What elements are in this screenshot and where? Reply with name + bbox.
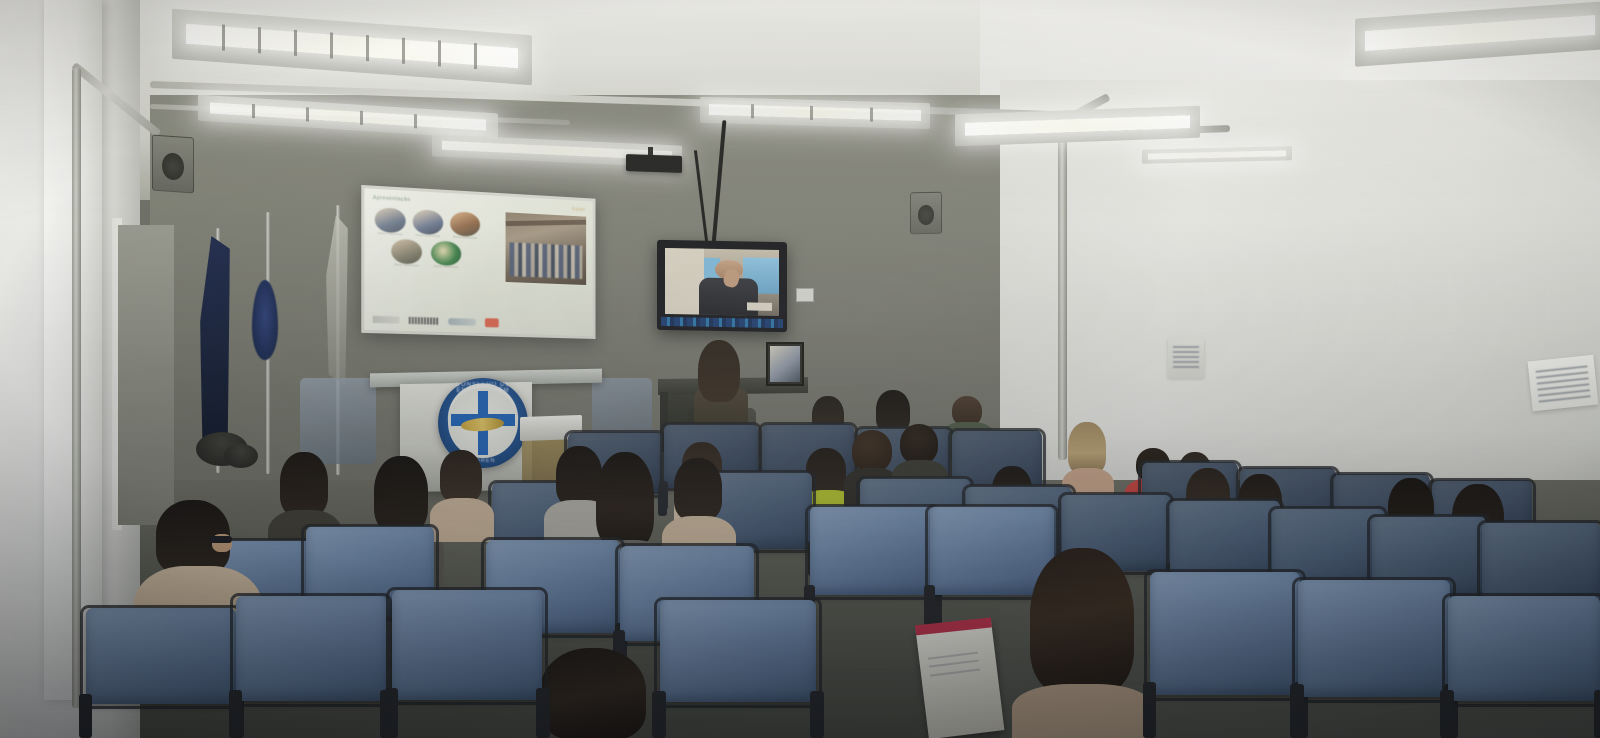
- auditorium-chair[interactable]: [1298, 580, 1450, 738]
- wall-outlet: [796, 288, 814, 302]
- tv-status-bar: [661, 317, 783, 328]
- auditorium-chair[interactable]: [1150, 572, 1300, 738]
- auditorium-chair[interactable]: [392, 590, 542, 738]
- conduit-vertical-right: [1058, 130, 1067, 460]
- sponsor-logo: [448, 318, 476, 326]
- picture-frame: [766, 342, 804, 386]
- slide-group-photo: [506, 212, 587, 285]
- wall-poster: [1168, 338, 1204, 378]
- eyeglasses: [210, 536, 232, 543]
- wall-speaker-left: [152, 135, 194, 194]
- sponsor-logo: [409, 317, 439, 325]
- auditorium-chair[interactable]: [660, 600, 816, 738]
- slide-sponsor-logos: [373, 315, 585, 330]
- tv-screen-content: [665, 248, 779, 316]
- wall-sign: [1528, 355, 1599, 412]
- auditorium-chair[interactable]: [1448, 596, 1600, 738]
- ceiling-projector: [626, 154, 682, 173]
- slide-portrait: Nome Sobrenome: [450, 211, 480, 240]
- auditorium-chair[interactable]: [236, 596, 386, 738]
- sponsor-logo: [373, 316, 400, 324]
- front-chair-left: [300, 378, 376, 464]
- open-notebook[interactable]: [916, 621, 1005, 738]
- slide-portrait: Nome Sobrenome: [391, 238, 422, 267]
- wall-television: [657, 240, 787, 332]
- projection-screen: Apresentação Equipe Nome Sobrenome Nome …: [361, 185, 595, 339]
- lecture-hall-photo: Apresentação Equipe Nome Sobrenome Nome …: [0, 0, 1600, 738]
- doorway[interactable]: [118, 225, 174, 525]
- auditorium-chair[interactable]: [810, 506, 936, 626]
- slide-portrait: Nome Sobrenome: [413, 209, 443, 238]
- auditorium-chair[interactable]: [86, 608, 236, 738]
- wall-speaker-right: [910, 192, 942, 235]
- slide-title-right: Equipe: [572, 206, 585, 212]
- sponsor-logo: [485, 318, 499, 327]
- projected-slide: Apresentação Equipe Nome Sobrenome Nome …: [364, 188, 592, 336]
- slide-portrait: Nome Sobrenome: [431, 240, 461, 269]
- slide-portrait-grid: Nome Sobrenome Nome Sobrenome Nome Sobre…: [375, 207, 484, 272]
- seated-presenter: [698, 340, 740, 402]
- slide-portrait: Nome Sobrenome: [375, 207, 406, 237]
- flag-base: [224, 444, 258, 468]
